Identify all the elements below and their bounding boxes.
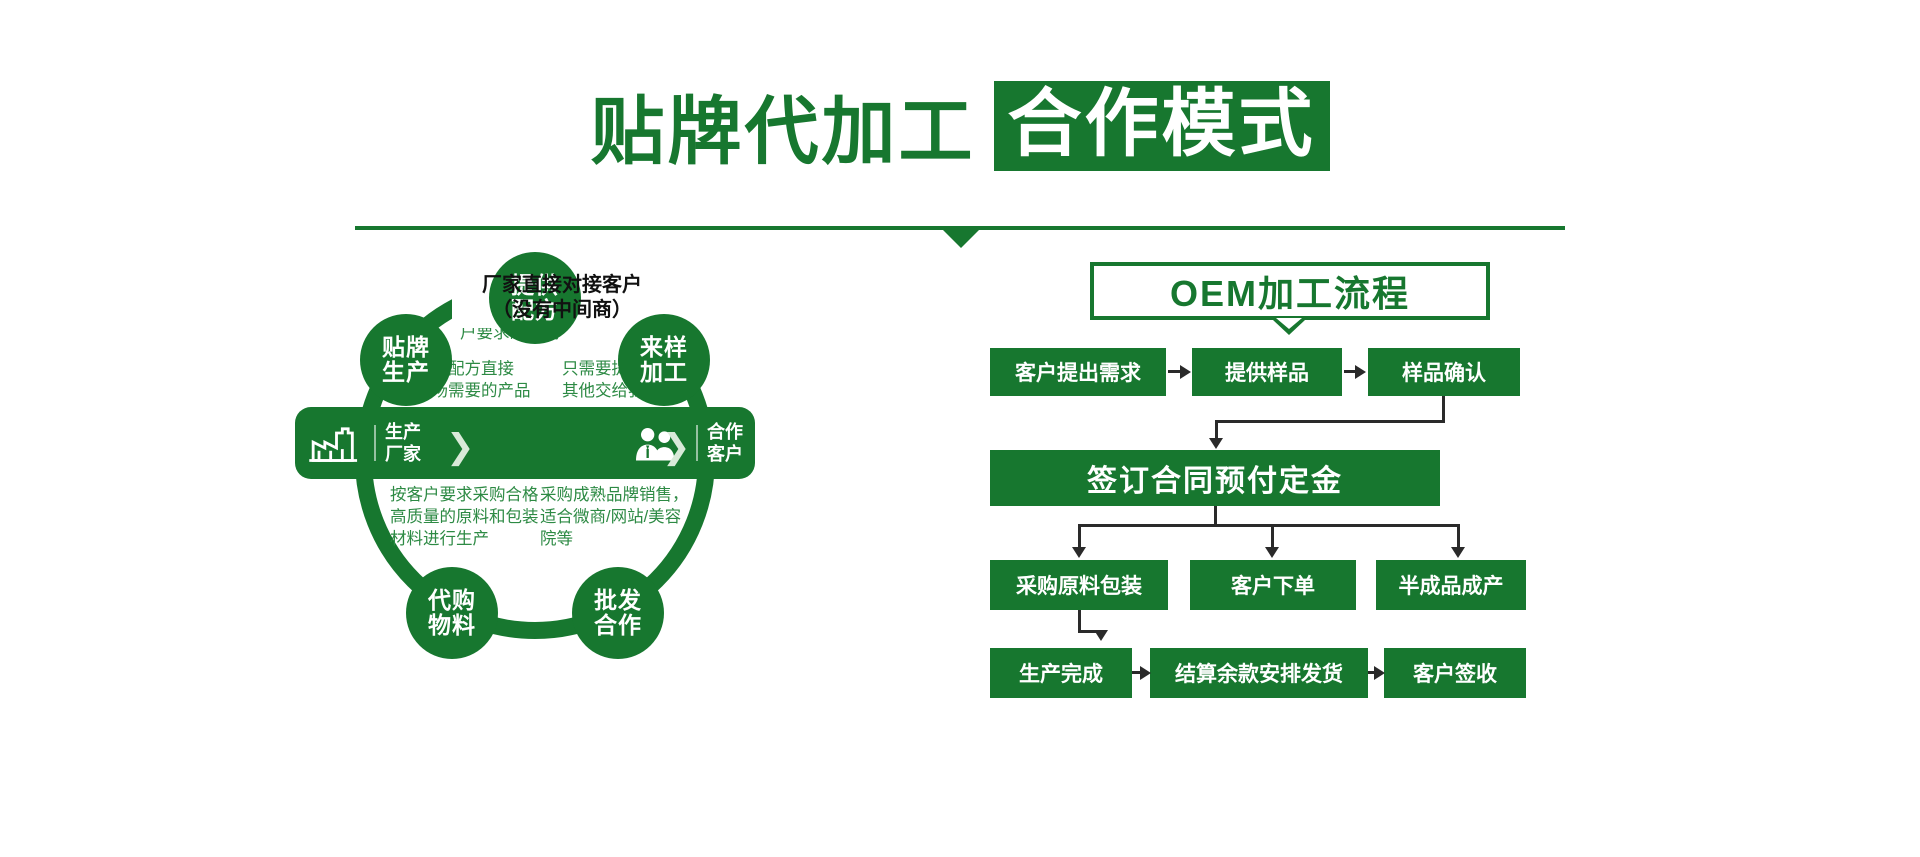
arrow-line-r3-to-r4-v bbox=[1078, 610, 1081, 632]
node-line-2: 物料 bbox=[428, 613, 476, 638]
page-title: 贴牌代加工合作模式 bbox=[0, 72, 1920, 179]
arrow-line-r2-h bbox=[1078, 524, 1460, 527]
node-line-1: 代购 bbox=[428, 588, 476, 613]
arrow-head-r3-3-icon bbox=[1451, 547, 1465, 558]
arrow-head-r2-icon bbox=[1209, 438, 1223, 449]
arrow-line-r3-2-v bbox=[1271, 524, 1274, 548]
oem-flowchart-title: OEM加工流程 bbox=[1090, 262, 1490, 320]
circle-node-sample-processing[interactable]: 来样 加工 bbox=[618, 314, 710, 406]
oem-flowchart: OEM加工流程 客户提出需求 提供样品 样品确认 签订合同预付定金 采购原料包装… bbox=[990, 262, 1600, 682]
chevron-right-icon-left: ❯ bbox=[446, 430, 475, 464]
flow-box-sample-confirm[interactable]: 样品确认 bbox=[1368, 348, 1520, 396]
circle-node-wholesale-cooperation[interactable]: 批发 合作 bbox=[572, 567, 664, 659]
arrow-line-r3-1-v bbox=[1078, 524, 1081, 548]
page-title-primary: 贴牌代加工 bbox=[591, 90, 976, 173]
arrow-line-r3-3-v bbox=[1457, 524, 1460, 548]
arrow-head-r3-1-icon bbox=[1072, 547, 1086, 558]
band-center-text: 厂家直接对接客户 （没有中间商） bbox=[482, 273, 642, 323]
band-left-label: 生产 厂家 bbox=[385, 421, 421, 465]
arrow-line-r1-to-r2-h bbox=[1215, 420, 1445, 423]
flow-box-settle-balance-ship[interactable]: 结算余款安排发货 bbox=[1150, 648, 1368, 698]
flow-box-semi-finished[interactable]: 半成品成产 bbox=[1376, 560, 1526, 610]
node-line-1: 来样 bbox=[640, 335, 688, 360]
flow-box-sign-contract-deposit[interactable]: 签订合同预付定金 bbox=[990, 450, 1440, 506]
arrow-head-r1-2-icon bbox=[1355, 365, 1366, 379]
flow-box-purchase-materials[interactable]: 采购原料包装 bbox=[990, 560, 1168, 610]
node-line-2: 合作 bbox=[594, 613, 642, 638]
flow-box-production-complete[interactable]: 生产完成 bbox=[990, 648, 1132, 698]
arrow-head-r3-2-icon bbox=[1265, 547, 1279, 558]
flow-box-customer-receipt[interactable]: 客户签收 bbox=[1384, 648, 1526, 698]
band-right-label: 合作 客户 bbox=[707, 421, 743, 465]
band-right-divider bbox=[696, 425, 698, 461]
header-divider-caret-icon bbox=[943, 230, 979, 248]
chevron-right-icon-right: ❯ bbox=[662, 430, 691, 464]
node-line-1: 批发 bbox=[594, 588, 642, 613]
oem-title-caret-inner-icon bbox=[1276, 318, 1302, 329]
arrow-line-r1-to-r2-v bbox=[1442, 396, 1445, 422]
arrow-line-r2-stem bbox=[1214, 506, 1217, 526]
arrow-head-r4-2-icon bbox=[1374, 666, 1385, 680]
node-line-2: 加工 bbox=[640, 360, 688, 385]
factory-icon bbox=[309, 422, 359, 464]
circle-node-oem-production[interactable]: 贴牌 生产 bbox=[360, 314, 452, 406]
node-line-1: 贴牌 bbox=[382, 335, 430, 360]
infographic-page: 贴牌代加工合作模式 提供配方加工成客 户要求的形式 公司提供配方直接 供应市场需… bbox=[0, 0, 1920, 857]
desc-wholesale-cooperation: 采购成熟品牌销售， 适合微商/网站/美容 院等 bbox=[540, 484, 720, 550]
circle-node-material-purchase[interactable]: 代购 物料 bbox=[406, 567, 498, 659]
flow-box-customer-request[interactable]: 客户提出需求 bbox=[990, 348, 1166, 396]
arrow-head-r4-icon bbox=[1094, 630, 1108, 641]
cooperation-circle-diagram: 提供配方加工成客 户要求的形式 公司提供配方直接 供应市场需要的产品 只需要提供… bbox=[300, 262, 820, 682]
band-manufacturer-group: 生产 厂家 bbox=[295, 407, 421, 479]
arrow-head-r4-1-icon bbox=[1140, 666, 1151, 680]
band-left-divider bbox=[374, 425, 376, 461]
arrow-head-r1-1-icon bbox=[1180, 365, 1191, 379]
band-center-panel: 厂家直接对接客户 （没有中间商） bbox=[452, 268, 672, 328]
arrow-line-r1-to-r2-d bbox=[1215, 420, 1218, 438]
page-title-highlight: 合作模式 bbox=[994, 81, 1330, 171]
node-line-2: 生产 bbox=[382, 360, 430, 385]
flow-box-provide-sample[interactable]: 提供样品 bbox=[1192, 348, 1342, 396]
flow-box-customer-order[interactable]: 客户下单 bbox=[1190, 560, 1356, 610]
